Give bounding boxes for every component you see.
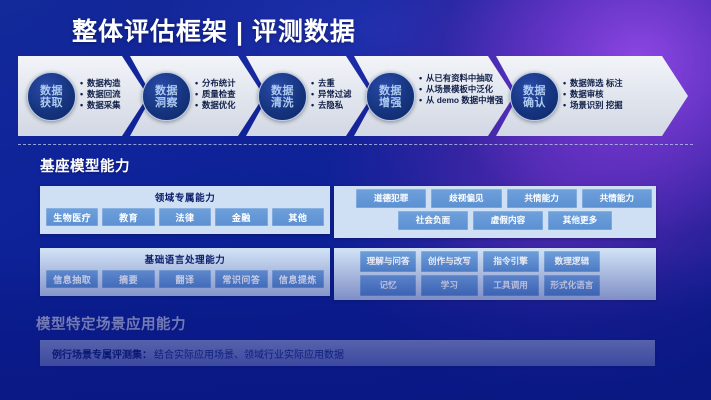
- data-pipeline-flow: 数据 获取 数据构造 数据回流 数据采集 数据 洞察 分布统计 质量检查 数据优…: [18, 56, 698, 136]
- list-item: 去隐私: [311, 100, 352, 111]
- list-item: 数据构造: [80, 78, 121, 89]
- tag-safety-4[interactable]: 社会负面: [398, 211, 468, 230]
- tag-cognition-5[interactable]: 学习: [421, 275, 477, 296]
- panel-domain-title: 领域专属能力: [40, 186, 330, 204]
- list-item: 质量检查: [195, 89, 236, 100]
- flow-step-5-badge: 数据 确认: [510, 72, 559, 121]
- list-item: 从场景模板中泛化: [419, 84, 512, 95]
- list-item: 分布统计: [195, 78, 236, 89]
- tag-safety-1[interactable]: 歧视偏见: [431, 189, 501, 208]
- tag-cognition-1[interactable]: 创作与改写: [421, 251, 477, 272]
- flow-step-4-badge-top: 数据: [379, 85, 402, 97]
- flow-step-3-items: 去重 异常过滤 去隐私: [311, 78, 352, 112]
- tag-nlp-0[interactable]: 信息抽取: [46, 270, 98, 288]
- scene-bar-text: 结合实际应用场景、领域行业实际应用数据: [152, 346, 344, 361]
- tag-cognition-2[interactable]: 指令引擎: [483, 251, 539, 272]
- panel-nlp-title: 基础语言处理能力: [40, 248, 330, 266]
- flow-step-2-items: 分布统计 质量检查 数据优化: [195, 78, 236, 112]
- tag-cognition-0[interactable]: 理解与问答: [360, 251, 416, 272]
- scene-evaluation-bar: 例行场景专属评测集： 结合实际应用场景、领域行业实际应用数据: [40, 340, 655, 366]
- list-item: 去重: [311, 78, 352, 89]
- list-item: 数据回流: [80, 89, 121, 100]
- panel-nlp-capability: 基础语言处理能力 信息抽取 摘要 翻译 常识问答 信息提炼: [40, 248, 330, 296]
- panel-safety-capability: 安全能力 道德犯罪 歧视偏见 共情能力 共情能力 社会负面 虚假内容 其他更多: [334, 186, 656, 238]
- flow-step-3-badge: 数据 清洗: [258, 72, 307, 121]
- panel-safety-row2: 社会负面 虚假内容 其他更多: [356, 211, 652, 230]
- tag-safety-2[interactable]: 共情能力: [507, 189, 577, 208]
- panel-cognition-capability: 认知与生成能力 理解与问答 创作与改写 指令引擎 数理逻辑 记忆 学习 工具调用…: [334, 248, 656, 300]
- slide-canvas: 整体评估框架 | 评测数据 数据 获取 数据构造 数据回流 数据采集 数据 洞察…: [0, 0, 711, 400]
- tag-nlp-1[interactable]: 摘要: [102, 270, 154, 288]
- scene-bar-label: 例行场景专属评测集：: [40, 346, 152, 361]
- panel-nlp-tags: 信息抽取 摘要 翻译 常识问答 信息提炼: [40, 266, 330, 294]
- panel-domain-tags: 生物医疗 教育 法律 金融 其他: [40, 204, 330, 232]
- flow-step-1-badge-top: 数据: [40, 85, 63, 97]
- panel-cognition-row2: 记忆 学习 工具调用 形式化语言: [360, 275, 600, 296]
- flow-step-5-badge-bottom: 确认: [523, 97, 546, 109]
- list-item: 场景识别 挖掘: [563, 100, 623, 111]
- page-title: 整体评估框架 | 评测数据: [72, 12, 356, 48]
- list-item: 数据审核: [563, 89, 623, 100]
- tag-domain-1[interactable]: 教育: [102, 208, 154, 226]
- tag-domain-2[interactable]: 法律: [159, 208, 211, 226]
- base-capability-heading: 基座模型能力: [40, 155, 130, 176]
- tag-cognition-4[interactable]: 记忆: [360, 275, 416, 296]
- list-item: 数据筛选 标注: [563, 78, 623, 89]
- tag-cognition-7[interactable]: 形式化语言: [544, 275, 600, 296]
- tag-cognition-3[interactable]: 数理逻辑: [544, 251, 600, 272]
- flow-step-1-badge: 数据 获取: [27, 72, 76, 121]
- list-item: 数据采集: [80, 100, 121, 111]
- list-item: 数据优化: [195, 100, 236, 111]
- flow-step-3-badge-bottom: 清洗: [271, 97, 294, 109]
- tag-domain-3[interactable]: 金融: [215, 208, 267, 226]
- tag-domain-0[interactable]: 生物医疗: [46, 208, 98, 226]
- flow-step-3-badge-top: 数据: [271, 85, 294, 97]
- panel-safety-label: 安全能力: [670, 376, 685, 400]
- panel-cognition-row1: 理解与问答 创作与改写 指令引擎 数理逻辑: [360, 251, 600, 272]
- panel-cognition-inner: 理解与问答 创作与改写 指令引擎 数理逻辑 记忆 学习 工具调用 形式化语言: [360, 251, 600, 299]
- tag-safety-5[interactable]: 虚假内容: [473, 211, 543, 230]
- list-item: 异常过滤: [311, 89, 352, 100]
- flow-step-2-badge-top: 数据: [155, 85, 178, 97]
- tag-nlp-4[interactable]: 信息提炼: [272, 270, 324, 288]
- tag-domain-4[interactable]: 其他: [272, 208, 324, 226]
- flow-step-1-items: 数据构造 数据回流 数据采集: [80, 78, 121, 112]
- panel-safety-inner: 道德犯罪 歧视偏见 共情能力 共情能力 社会负面 虚假内容 其他更多: [356, 189, 652, 233]
- flow-step-1-badge-bottom: 获取: [40, 97, 63, 109]
- flow-step-4-items: 从已有资料中抽取 从场景模板中泛化 从 demo 数据中增强: [419, 73, 512, 107]
- tag-safety-0[interactable]: 道德犯罪: [356, 189, 426, 208]
- list-item: 从 demo 数据中增强: [419, 95, 512, 106]
- tag-safety-6[interactable]: 其他更多: [548, 211, 612, 230]
- flow-step-2-badge: 数据 洞察: [142, 72, 191, 121]
- tag-nlp-3[interactable]: 常识问答: [215, 270, 267, 288]
- tag-safety-3[interactable]: 共情能力: [582, 189, 652, 208]
- flow-step-4-badge-bottom: 增强: [379, 97, 402, 109]
- scene-capability-heading: 模型特定场景应用能力: [36, 313, 186, 334]
- tag-cognition-6[interactable]: 工具调用: [483, 275, 539, 296]
- panel-domain-capability: 领域专属能力 生物医疗 教育 法律 金融 其他: [40, 186, 330, 234]
- section-divider: [18, 144, 693, 145]
- flow-step-5-badge-top: 数据: [523, 85, 546, 97]
- list-item: 从已有资料中抽取: [419, 73, 512, 84]
- panel-safety-row1: 道德犯罪 歧视偏见 共情能力 共情能力: [356, 189, 652, 208]
- flow-step-4-badge: 数据 增强: [366, 72, 415, 121]
- flow-step-5-items: 数据筛选 标注 数据审核 场景识别 挖掘: [563, 78, 623, 112]
- flow-step-2-badge-bottom: 洞察: [155, 97, 178, 109]
- tag-nlp-2[interactable]: 翻译: [159, 270, 211, 288]
